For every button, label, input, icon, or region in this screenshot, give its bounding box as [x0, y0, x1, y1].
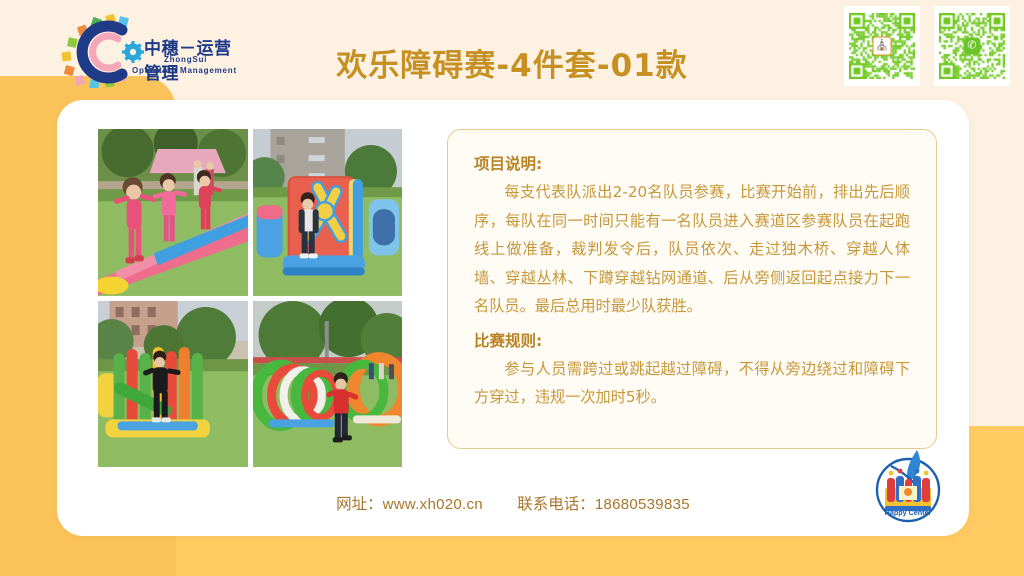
footer-contact: 网址：www.xh020.cn 联系电话：18680539835 [57, 492, 969, 514]
photo-grid [98, 129, 402, 467]
section-body-description: 每支代表队派出2-20名队员参赛，比赛开始前，排出先后顺序，每队在同一时间只能有… [474, 178, 910, 321]
alipay-icon: ⛪ [873, 37, 892, 56]
photo-balance-beam[interactable] [98, 129, 248, 296]
phone-value[interactable]: 18680539835 [595, 496, 690, 513]
photo-human-wall[interactable] [253, 129, 403, 296]
photo-ring-tunnel[interactable] [253, 301, 403, 468]
qr-code-group: ⛪ ✆ [844, 6, 1010, 86]
website-label: 网址： [336, 495, 383, 513]
wechat-qr-code[interactable]: ✆ [934, 6, 1010, 86]
wechat-icon: ✆ [964, 38, 981, 55]
alipay-qr-code[interactable]: ⛪ [844, 6, 920, 86]
happy-center-label: Happy Center [885, 508, 932, 517]
poster-stage: 中穗－运营管理 ZhongSui Operation Management 欢乐… [0, 0, 1024, 576]
website-value[interactable]: www.xh020.cn [383, 496, 483, 513]
section-heading-description: 项目说明: [474, 152, 910, 174]
section-heading-rules: 比赛规则: [474, 329, 910, 351]
poster-header: 中穗－运营管理 ZhongSui Operation Management 欢乐… [0, 0, 1024, 100]
phone-label: 联系电话： [517, 495, 595, 513]
section-body-rules: 参与人员需跨过或跳起越过障碍，不得从旁边绕过和障碍下方穿过，违规一次加时5秒。 [474, 355, 910, 412]
photo-jungle[interactable] [98, 301, 248, 468]
description-panel: 项目说明: 每支代表队派出2-20名队员参赛，比赛开始前，排出先后顺序，每队在同… [447, 129, 937, 449]
happy-center-badge: Happy Center [869, 448, 947, 524]
content-card: 项目说明: 每支代表队派出2-20名队员参赛，比赛开始前，排出先后顺序，每队在同… [57, 100, 969, 536]
